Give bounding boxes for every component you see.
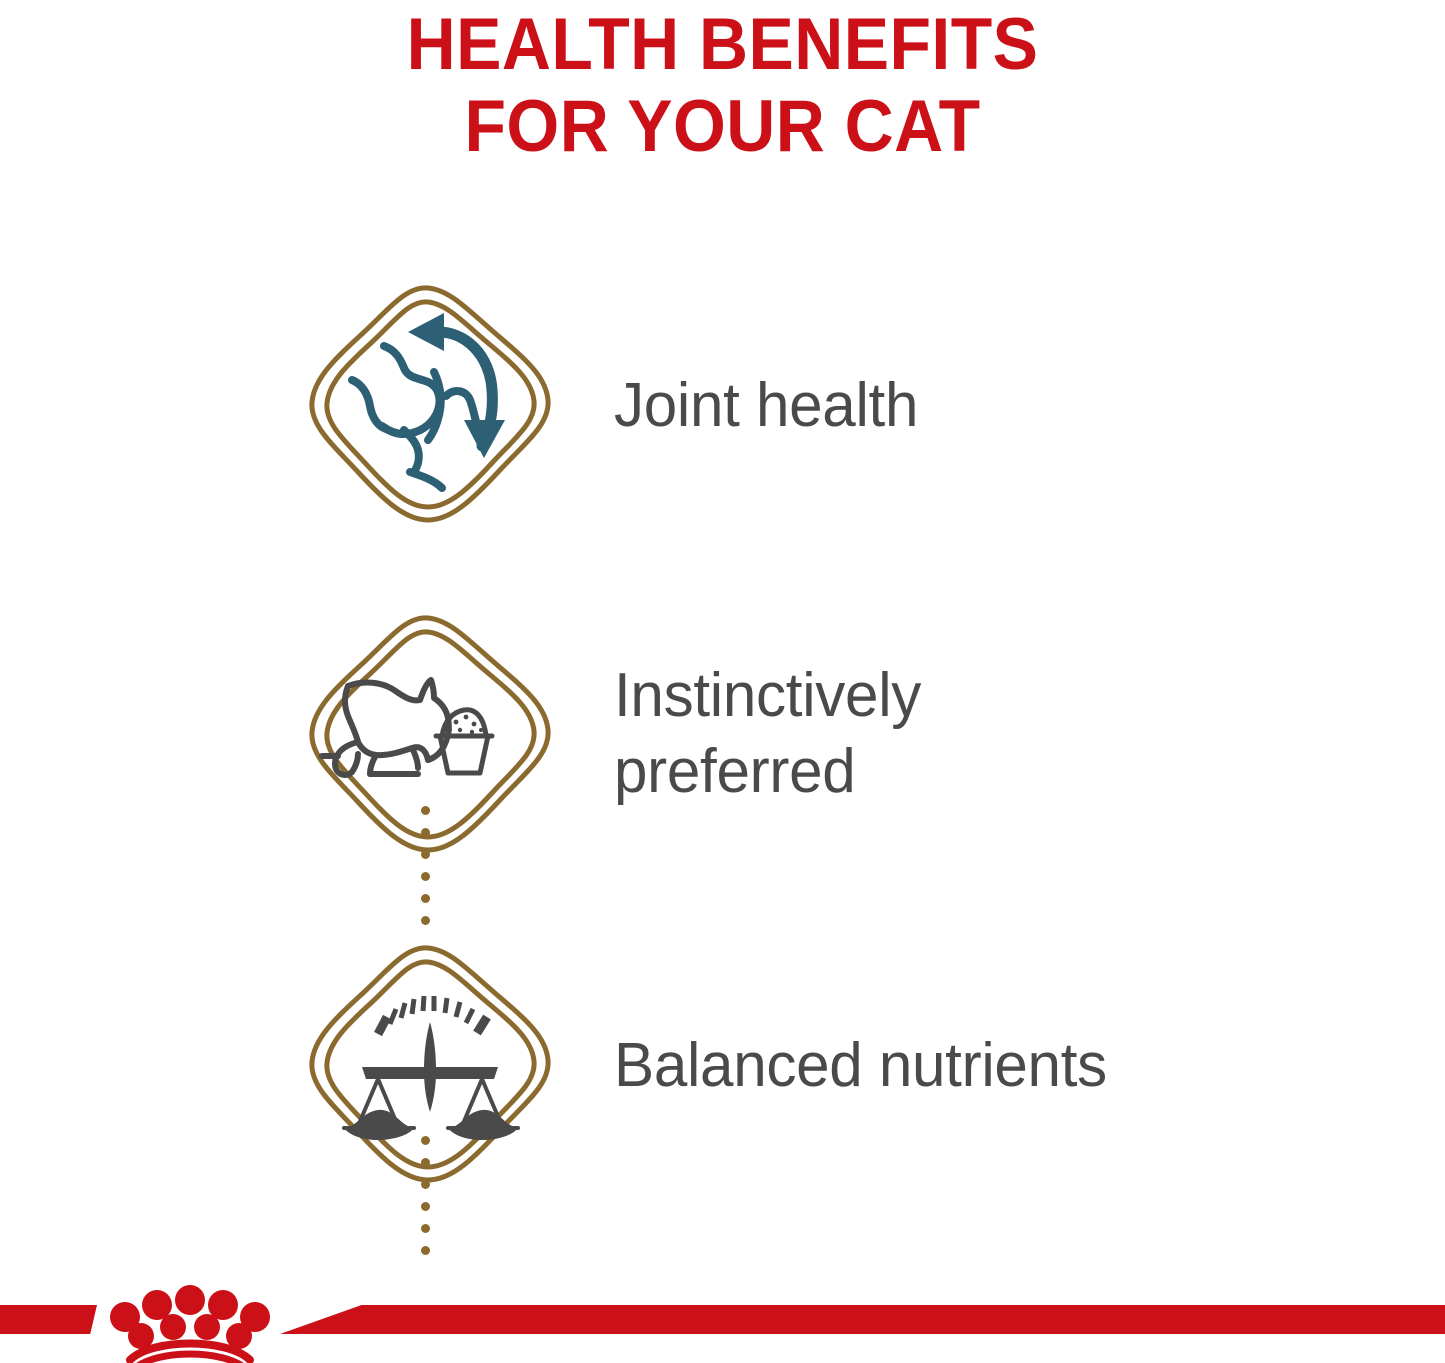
footer-rule-right [280, 1305, 1445, 1334]
benefit-item-balanced-nutrients: Balanced nutrients [0, 930, 1445, 1260]
benefit-label-instinctively-preferred: Instinctively preferred [614, 658, 1371, 810]
benefit-label-line: preferred [614, 734, 1371, 810]
joint-health-icon [300, 270, 560, 600]
benefit-label-line: Instinctively [614, 658, 1371, 734]
page-title-line-1: HEALTH BENEFITS [51, 4, 1395, 86]
page-title-line-2: FOR YOUR CAT [51, 86, 1395, 168]
benefit-item-joint-health: Joint health [0, 270, 1445, 600]
footer [0, 1272, 1445, 1363]
benefit-label-joint-health: Joint health [614, 368, 1371, 444]
benefit-item-instinctively-preferred: Instinctively preferred [0, 600, 1445, 930]
page-title: HEALTH BENEFITS FOR YOUR CAT [0, 0, 1445, 168]
benefit-label-line: Balanced nutrients [614, 1028, 1371, 1104]
footer-rule-left [0, 1305, 97, 1334]
benefits-list: Joint health [0, 270, 1445, 1260]
health-benefits-page: HEALTH BENEFITS FOR YOUR CAT [0, 0, 1445, 1363]
benefit-label-line: Joint health [614, 368, 1371, 444]
cat-eating-bowl-icon [300, 600, 560, 930]
royal-canin-crown-logo [100, 1272, 280, 1363]
balance-scale-icon [300, 930, 560, 1260]
benefit-label-balanced-nutrients: Balanced nutrients [614, 1028, 1371, 1104]
